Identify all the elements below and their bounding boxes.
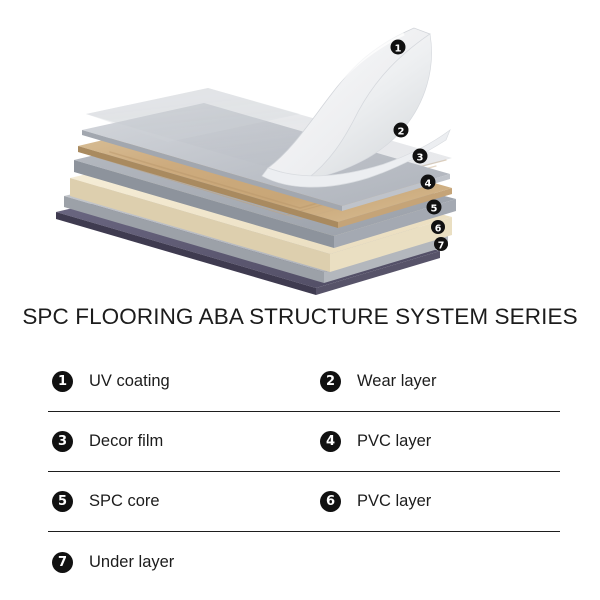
callout-badge-2-number: 2 [398,127,405,138]
legend-label-1: UV coating [89,372,170,391]
page-title: SPC FLOORING ABA STRUCTURE SYSTEM SERIES [0,304,600,330]
legend-label-5: SPC core [89,492,160,511]
legend-row: 7 Under layer [48,532,560,592]
legend-table: 1 UV coating 2 Wear layer 3 Decor film 4… [48,352,560,592]
legend-badge-4: 4 [320,431,341,452]
legend-row: 5 SPC core 6 PVC layer [48,472,560,532]
legend-label-2: Wear layer [357,372,436,391]
legend-row: 3 Decor film 4 PVC layer [48,412,560,472]
legend-label-3: Decor film [89,432,163,451]
callout-badge-5: 5 [427,200,442,215]
legend-label-4: PVC layer [357,432,431,451]
legend-badge-3: 3 [52,431,73,452]
callout-badge-1: 1 [391,40,406,55]
legend-badge-7: 7 [52,552,73,573]
callout-badge-1-number: 1 [395,44,402,55]
callout-badge-6-number: 6 [435,223,442,234]
legend-label-6: PVC layer [357,492,431,511]
callout-badge-4: 4 [421,175,436,190]
legend-row: 1 UV coating 2 Wear layer [48,352,560,412]
legend-item-pvc-layer-lower[interactable]: 6 PVC layer [320,491,560,512]
flooring-structure-diagram: 1 2 3 4 5 6 7 [0,0,600,300]
legend-item-under-layer[interactable]: 7 Under layer [48,552,320,573]
exploded-layers-illustration: 1 2 3 4 5 6 7 [0,0,600,300]
legend-item-spc-core[interactable]: 5 SPC core [48,491,320,512]
legend-badge-5: 5 [52,491,73,512]
callout-badge-5-number: 5 [431,204,438,215]
legend-item-wear-layer[interactable]: 2 Wear layer [320,371,560,392]
callout-badge-3-number: 3 [417,153,424,164]
callout-badge-7-number: 7 [438,240,445,251]
legend-item-uv-coating[interactable]: 1 UV coating [48,371,320,392]
legend-label-7: Under layer [89,553,174,572]
callout-badge-2: 2 [394,123,409,138]
callout-badge-4-number: 4 [425,179,432,190]
legend-badge-1: 1 [52,371,73,392]
legend-badge-6: 6 [320,491,341,512]
legend-item-decor-film[interactable]: 3 Decor film [48,431,320,452]
legend-badge-2: 2 [320,371,341,392]
legend-item-pvc-layer-upper[interactable]: 4 PVC layer [320,431,560,452]
callout-badge-3: 3 [413,149,428,164]
